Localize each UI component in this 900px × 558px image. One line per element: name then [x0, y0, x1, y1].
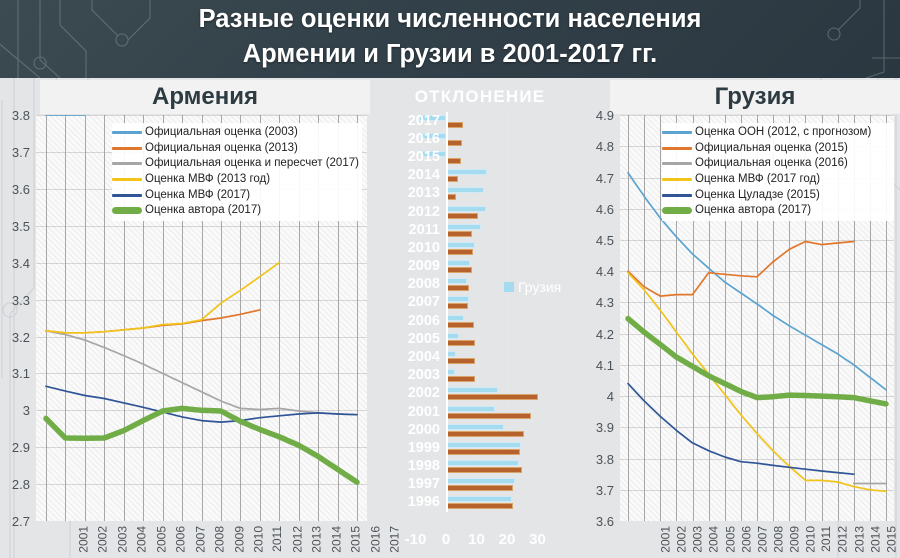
category-label: 2007: [376, 295, 440, 309]
bar: [446, 213, 478, 219]
legend-item[interactable]: Оценка автора (2017): [662, 203, 894, 219]
legend-swatch: [112, 178, 142, 181]
x-axis-tick-label: 2006: [740, 526, 752, 553]
bar: [446, 169, 487, 175]
georgia-chart: Оценка ООН (2012, с прогнозом)Официальна…: [584, 110, 900, 558]
series-line: [628, 273, 886, 492]
category-label: 2016: [376, 132, 440, 146]
y-axis-tick-label: 3.1: [0, 367, 30, 380]
category-label: 1998: [376, 459, 440, 473]
series-line: [46, 408, 357, 482]
legend-item[interactable]: Оценка МВФ (2017 год): [662, 172, 894, 188]
bar: [446, 333, 459, 339]
x-axis-tick-label: 2010: [805, 526, 817, 553]
series-line: [46, 331, 357, 415]
category-label: 2001: [376, 405, 440, 419]
deviation-zero-axis: [446, 112, 448, 512]
x-axis-tick-label: 2008: [214, 526, 226, 553]
legend-swatch: [662, 178, 692, 181]
y-axis-tick-label: 4.2: [584, 328, 614, 341]
category-label: 1997: [376, 477, 440, 491]
y-axis-tick-label: 4.8: [584, 140, 614, 153]
x-axis-tick-label: 2014: [869, 526, 881, 553]
x-axis-tick-label: 2009: [233, 526, 245, 553]
y-axis-tick-label: 3: [0, 404, 30, 417]
armenia-legend: Официальная оценка (2003)Официальная оце…: [112, 123, 362, 221]
x-axis-tick-label: 2009: [789, 526, 801, 553]
bar: [446, 194, 456, 200]
armenia-title: Армения: [40, 83, 370, 111]
y-axis-tick-label: 4.3: [584, 296, 614, 309]
bar: [446, 496, 512, 502]
bar: [446, 340, 475, 346]
bar: [446, 206, 486, 212]
bar: [446, 315, 464, 321]
bar: [446, 249, 473, 255]
bar: [446, 478, 515, 484]
category-label: 2017: [376, 114, 440, 128]
category-label: 1996: [376, 495, 440, 509]
bar: [446, 485, 513, 491]
y-axis-tick-label: 4: [584, 390, 614, 403]
bar: [446, 242, 475, 248]
bar: [446, 122, 463, 128]
legend-item[interactable]: Официальная оценка и пересчет (2017): [112, 156, 362, 172]
x-axis-tick-label: 2013: [853, 526, 865, 553]
category-label: 2010: [376, 241, 440, 255]
bar: [446, 376, 475, 382]
legend-item[interactable]: Официальная оценка (2003): [112, 125, 362, 141]
legend-swatch: [112, 207, 142, 214]
series-line: [46, 263, 279, 333]
y-axis-tick-label: 4.6: [584, 203, 614, 216]
legend-label: Оценка МВФ (2017): [145, 189, 250, 202]
category-label: 2003: [376, 368, 440, 382]
bar: [446, 351, 456, 357]
legend-item[interactable]: Официальная оценка (2015): [662, 141, 894, 157]
legend-item[interactable]: Официальная оценка (2016): [662, 156, 894, 172]
legend-label: Официальная оценка (2013): [145, 142, 298, 155]
deviation-chart: ОТКЛОНЕНИЕ 20172016201520142013201220112…: [376, 80, 584, 558]
page-title: Разные оценки численности населения Арме…: [0, 2, 900, 72]
legend-item[interactable]: Оценка МВФ (2017): [112, 187, 362, 203]
legend-label: Оценка автора (2017): [145, 204, 261, 217]
georgia-title: Грузия: [610, 83, 900, 111]
bar: [446, 224, 481, 230]
legend-label: Оценка МВФ (2013 год): [145, 173, 270, 186]
bar: [446, 358, 475, 364]
deviation-legend: Грузия: [504, 280, 561, 294]
category-label: 2012: [376, 205, 440, 219]
y-axis-tick-label: 3.6: [0, 183, 30, 196]
bar: [446, 260, 470, 266]
bar: [446, 442, 521, 448]
bar: [446, 187, 484, 193]
y-axis-tick-label: 2.9: [0, 441, 30, 454]
y-axis-tick-label: 3.8: [584, 453, 614, 466]
bar: [446, 296, 469, 302]
x-axis-tick-label: 2005: [724, 526, 736, 553]
armenia-plot-area: Официальная оценка (2003)Официальная оце…: [36, 115, 367, 521]
bar: [446, 394, 538, 400]
bar: [446, 140, 462, 146]
category-label: 2014: [376, 168, 440, 182]
y-axis-tick-label: 2.7: [0, 515, 30, 528]
georgia-legend: Оценка ООН (2012, с прогнозом)Официальна…: [662, 123, 894, 221]
x-axis-tick-label: 2004: [708, 526, 720, 553]
legend-swatch: [112, 131, 142, 134]
legend-label: Оценка автора (2017): [695, 204, 811, 217]
category-label: 2000: [376, 423, 440, 437]
y-axis-tick-label: 4.1: [584, 359, 614, 372]
x-axis-tick-label: 2010: [253, 526, 265, 553]
bar: [446, 460, 519, 466]
category-label: 2015: [376, 150, 440, 164]
y-axis-tick-label: 4.7: [584, 172, 614, 185]
legend-item[interactable]: Оценка МВФ (2013 год): [112, 172, 362, 188]
x-axis-tick-label: 2011: [271, 526, 283, 552]
category-label: 2013: [376, 186, 440, 200]
x-axis-tick-label: 2002: [676, 526, 688, 553]
legend-label: Официальная оценка (2003): [145, 126, 298, 139]
legend-swatch: [662, 207, 692, 214]
georgia-plot-area: Оценка ООН (2012, с прогнозом)Официальна…: [620, 115, 894, 521]
x-axis-tick-label: 2012: [837, 526, 849, 553]
legend-swatch: [112, 162, 142, 165]
y-axis-tick-label: 3.3: [0, 294, 30, 307]
y-axis-tick-label: 3.5: [0, 220, 30, 233]
armenia-panel: Армения: [40, 80, 370, 114]
x-axis-tick-label: 2011: [820, 526, 832, 552]
legend-swatch: [662, 194, 692, 197]
bar: [446, 285, 469, 291]
category-label: 2009: [376, 259, 440, 273]
bar: [446, 303, 468, 309]
bar: [446, 503, 513, 509]
legend-label: Официальная оценка (2015): [695, 142, 848, 155]
bar: [446, 449, 520, 455]
category-label: 1999: [376, 441, 440, 455]
y-axis-tick-label: 3.2: [0, 331, 30, 344]
category-label: 2002: [376, 386, 440, 400]
bar: [446, 424, 504, 430]
bar: [446, 158, 461, 164]
legend-swatch: [112, 194, 142, 197]
x-axis-tick-label: 2013: [311, 526, 323, 553]
slide-header: Разные оценки численности населения Арме…: [0, 0, 900, 78]
series-line: [628, 242, 854, 297]
x-axis-tick-label: 2003: [692, 526, 704, 553]
series-line: [46, 310, 260, 333]
legend-item[interactable]: Оценка Цуладзе (2015): [662, 187, 894, 203]
x-axis-tick-label: 2008: [773, 526, 785, 553]
category-label: 2011: [376, 223, 440, 237]
legend-item[interactable]: Официальная оценка (2013): [112, 141, 362, 157]
y-axis-tick-label: 4.9: [584, 109, 614, 122]
bar: [446, 322, 474, 328]
legend-label: Оценка МВФ (2017 год): [695, 173, 820, 186]
bar: [446, 176, 458, 182]
x-axis-tick-label: 2007: [757, 526, 769, 553]
deviation-legend-swatch: [504, 282, 514, 292]
legend-label: Официальная оценка (2016): [695, 157, 848, 170]
category-label: 2006: [376, 314, 440, 328]
y-axis-tick-label: 3.8: [0, 109, 30, 122]
legend-item[interactable]: Оценка автора (2017): [112, 203, 362, 219]
x-axis-tick-label: 2001: [660, 526, 672, 553]
x-axis-tick-label: 2014: [330, 526, 342, 553]
bar: [446, 267, 472, 273]
y-axis-tick-label: 3.6: [584, 515, 614, 528]
legend-label: Оценка ООН (2012, с прогнозом): [695, 126, 871, 139]
georgia-panel: Грузия: [610, 80, 900, 114]
bar: [446, 231, 472, 237]
y-axis-tick-label: 3.4: [0, 257, 30, 270]
category-label: 2005: [376, 332, 440, 346]
x-axis-tick-label: 2001: [78, 526, 90, 553]
armenia-chart: Официальная оценка (2003)Официальная оце…: [0, 110, 376, 558]
x-axis-tick-label: 2004: [136, 526, 148, 553]
deviation-legend-label: Грузия: [518, 280, 561, 294]
y-axis-tick-label: 3.9: [584, 421, 614, 434]
y-axis-tick-label: 4.4: [584, 265, 614, 278]
slide-root: Разные оценки численности населения Арме…: [0, 0, 900, 558]
x-axis-tick-label: 2015: [886, 526, 898, 553]
legend-label: Официальная оценка и пересчет (2017): [145, 157, 359, 170]
x-axis-tick-label: 2012: [292, 526, 304, 553]
bar: [446, 278, 467, 284]
category-label: 2008: [376, 277, 440, 291]
y-axis-tick-label: 3.7: [0, 146, 30, 159]
y-axis-tick-label: 4.5: [584, 234, 614, 247]
legend-swatch: [112, 147, 142, 150]
y-axis-tick-label: 2.8: [0, 478, 30, 491]
x-axis-tick-label: 2002: [97, 526, 109, 553]
bar: [446, 406, 495, 412]
category-label: 2004: [376, 350, 440, 364]
x-axis-tick-label: 2015: [350, 526, 362, 553]
deviation-plot-area: 2017201620152014201320122011201020092008…: [376, 112, 584, 524]
x-axis-tick-label: 30: [518, 532, 558, 547]
legend-swatch: [662, 147, 692, 150]
bar: [446, 413, 531, 419]
bar: [446, 431, 524, 437]
legend-label: Оценка Цуладзе (2015): [695, 189, 820, 202]
bar: [446, 467, 522, 473]
x-axis-tick-label: 2007: [194, 526, 206, 553]
legend-swatch: [662, 131, 692, 134]
legend-item[interactable]: Оценка ООН (2012, с прогнозом): [662, 125, 894, 141]
x-axis-tick-label: 2003: [117, 526, 129, 553]
legend-swatch: [662, 162, 692, 165]
x-axis-tick-label: 2006: [175, 526, 187, 553]
bar: [446, 387, 498, 393]
deviation-title: ОТКЛОНЕНИЕ: [376, 87, 584, 107]
y-axis-tick-label: 3.7: [584, 484, 614, 497]
x-axis-tick-label: 2005: [156, 526, 168, 553]
